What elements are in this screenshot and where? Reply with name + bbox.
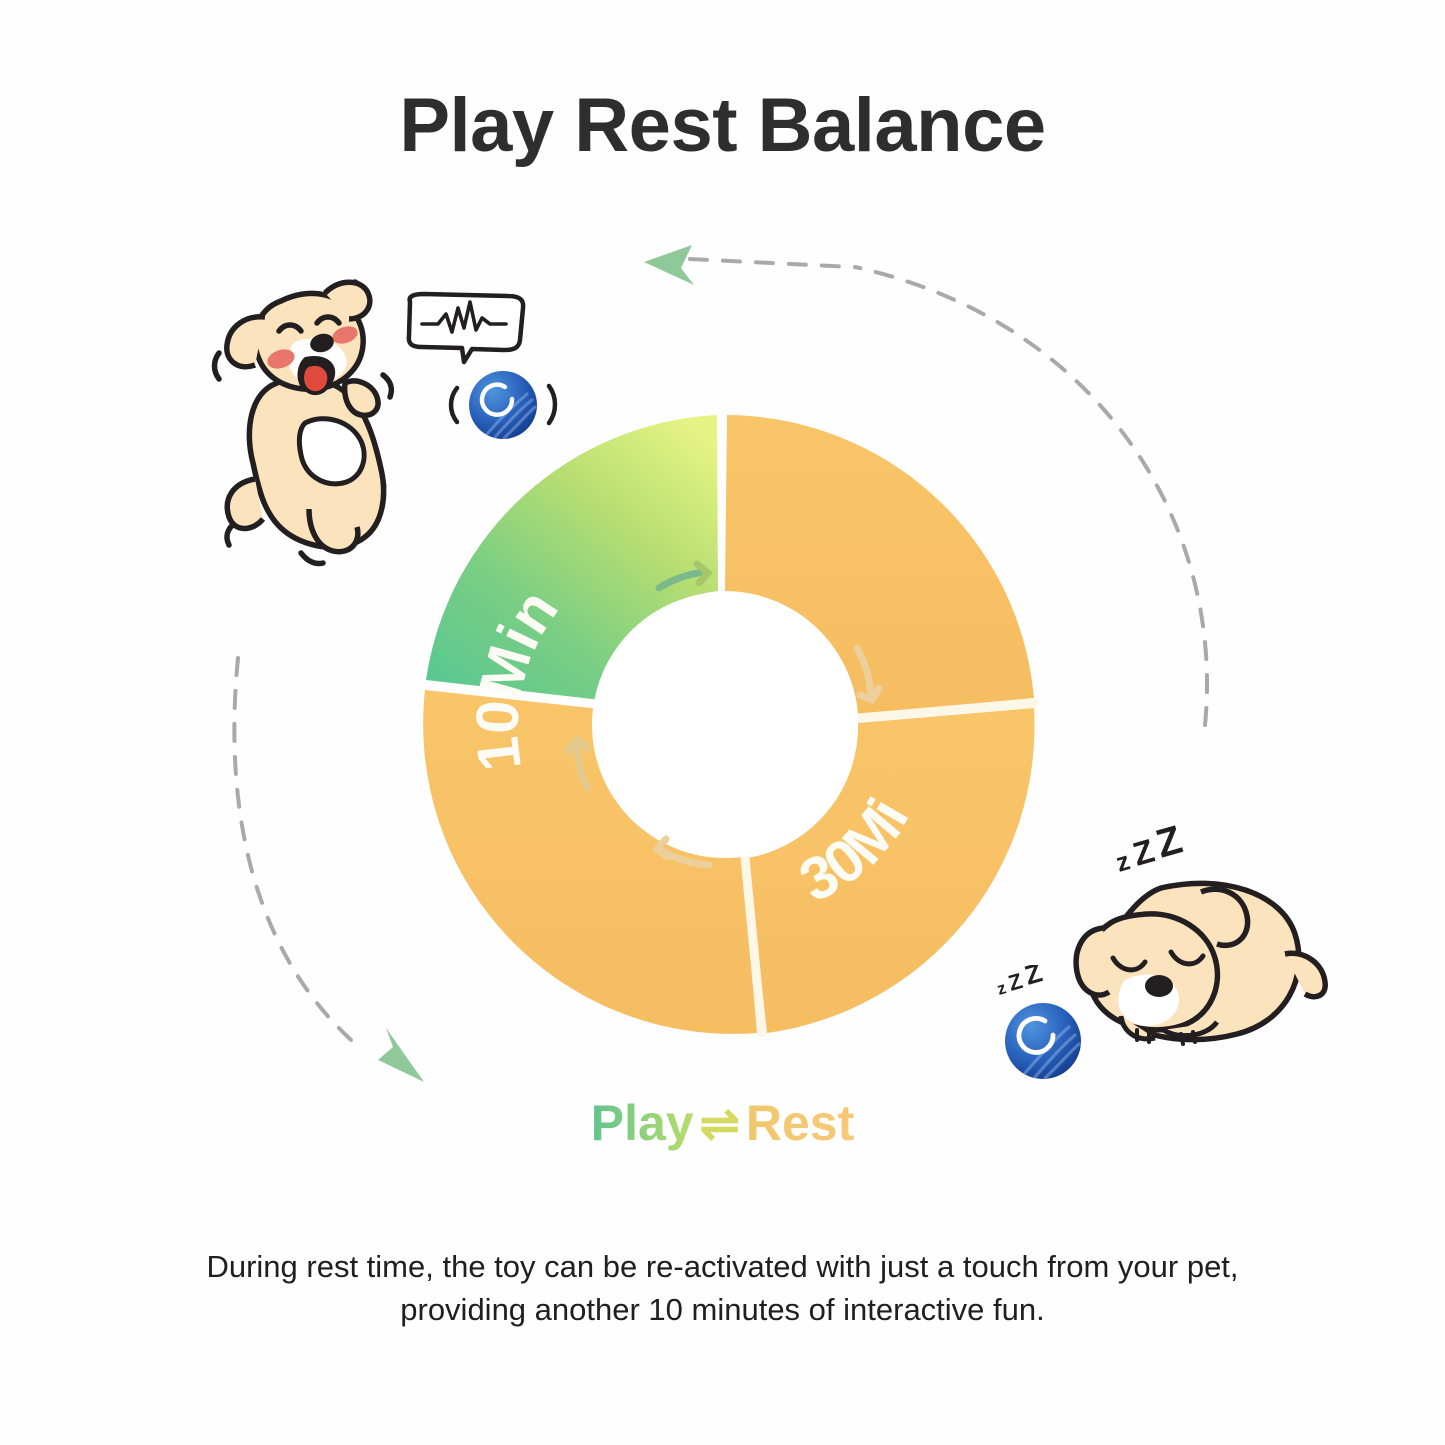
- smart-ball-play: [443, 350, 563, 460]
- swap-icon: ⇌: [694, 1098, 746, 1151]
- infographic-canvas: Play Rest Balance: [0, 0, 1445, 1445]
- svg-text:z: z: [995, 978, 1008, 999]
- smart-ball-rest: z Z Z: [985, 965, 1115, 1085]
- donut-hole: [592, 592, 858, 858]
- ball-motion-right-icon: [549, 386, 555, 423]
- svg-text:Z: Z: [1021, 965, 1045, 991]
- rest-label: Rest: [746, 1095, 854, 1151]
- motion-mark-left-icon: [215, 353, 220, 379]
- dog-tongue: [302, 364, 329, 393]
- top-dashed-arc-tail: [690, 259, 852, 267]
- svg-text:Z: Z: [1005, 968, 1025, 996]
- svg-text:z: z: [1112, 845, 1133, 877]
- play-label: Play: [591, 1095, 694, 1151]
- sleep-zzz-ball-icon: z Z Z: [995, 965, 1046, 999]
- svg-text:Z: Z: [1151, 818, 1187, 867]
- paw-toe-3: [1181, 1034, 1183, 1044]
- caption-text: During rest time, the toy can be re-acti…: [140, 1246, 1305, 1332]
- motion-mark-right-icon: [383, 375, 391, 397]
- dog-front-paw: [345, 381, 378, 415]
- sleep-zzz-dog-icon: z Z Z: [1112, 818, 1187, 878]
- page-title: Play Rest Balance: [0, 82, 1445, 169]
- dog-belly: [299, 419, 364, 484]
- top-arrow-head-icon: [644, 245, 694, 285]
- sleeping-dog-nose: [1145, 975, 1173, 997]
- paw-toe-4: [1193, 1032, 1195, 1042]
- play-rest-badge: Play⇌Rest: [0, 1094, 1445, 1152]
- ball-motion-left-icon: [451, 388, 457, 422]
- svg-text:Z: Z: [1129, 832, 1159, 873]
- motion-mark-foot-icon: [301, 553, 323, 564]
- bottom-left-dashed-arc: [234, 658, 360, 1048]
